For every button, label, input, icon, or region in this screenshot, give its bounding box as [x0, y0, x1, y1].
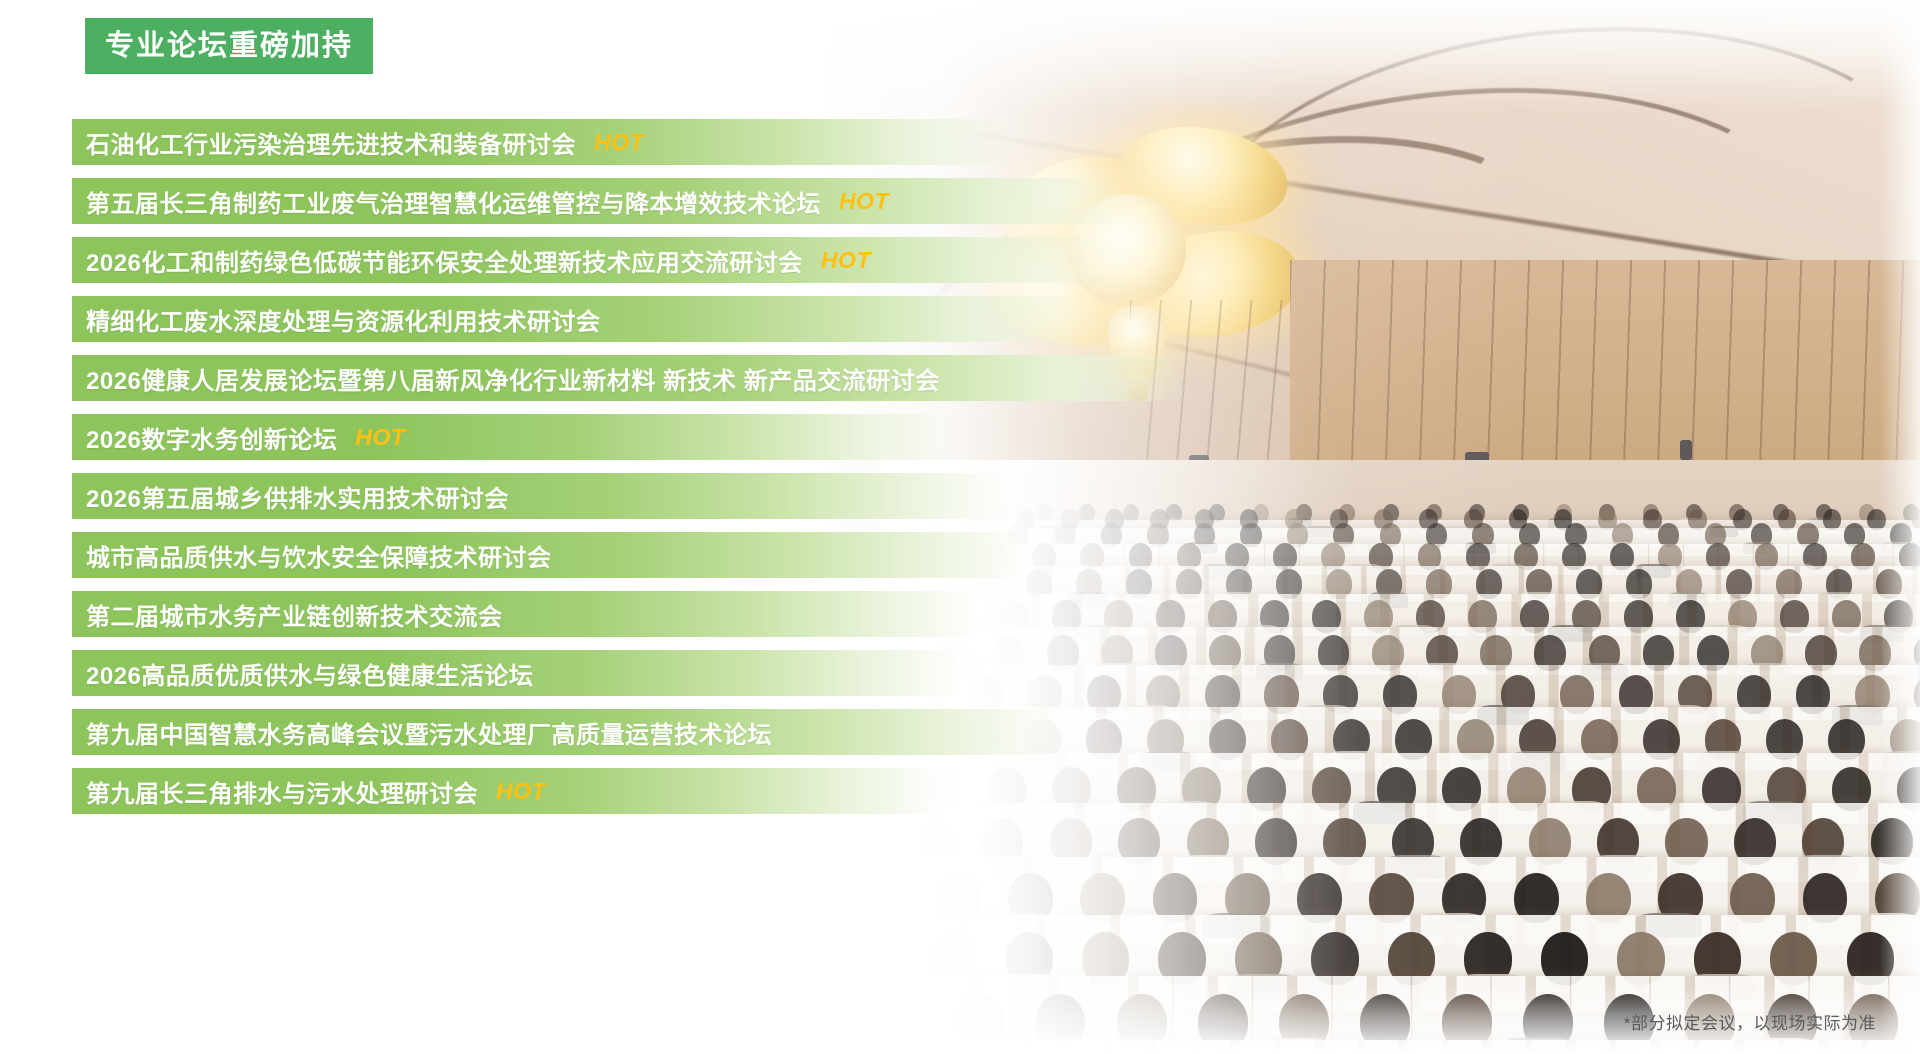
- forum-title: 2026高品质优质供水与绿色健康生活论坛: [86, 656, 533, 691]
- forum-title: 城市高品质供水与饮水安全保障技术研讨会: [86, 538, 552, 573]
- forum-row[interactable]: 第二届城市水务产业链创新技术交流会: [72, 591, 1872, 637]
- forum-title: 2026第五届城乡供排水实用技术研讨会: [86, 479, 509, 514]
- forum-title: 2026化工和制药绿色低碳节能环保安全处理新技术应用交流研讨会: [86, 243, 803, 278]
- forum-title: 第二届城市水务产业链创新技术交流会: [86, 597, 503, 632]
- hot-badge: HOT: [355, 424, 405, 451]
- poster-content: 专业论坛重磅加持 石油化工行业污染治理先进技术和装备研讨会HOT第五届长三角制药…: [0, 0, 1920, 1054]
- forum-row[interactable]: 2026化工和制药绿色低碳节能环保安全处理新技术应用交流研讨会HOT: [72, 237, 1872, 283]
- forum-row[interactable]: 精细化工废水深度处理与资源化利用技术研讨会: [72, 296, 1872, 342]
- forum-row[interactable]: 2026高品质优质供水与绿色健康生活论坛: [72, 650, 1872, 696]
- footnote-disclaimer: *部分拟定会议，以现场实际为准: [1624, 1009, 1876, 1034]
- forum-title: 第九届中国智慧水务高峰会议暨污水处理厂高质量运营技术论坛: [86, 715, 772, 750]
- forum-row[interactable]: 城市高品质供水与饮水安全保障技术研讨会: [72, 532, 1872, 578]
- section-title-text: 专业论坛重磅加持: [105, 32, 353, 61]
- hot-badge: HOT: [496, 778, 546, 805]
- forum-title: 2026健康人居发展论坛暨第八届新风净化行业新材料 新技术 新产品交流研讨会: [86, 361, 940, 396]
- hot-badge: HOT: [821, 247, 871, 274]
- section-title-badge: 专业论坛重磅加持: [85, 18, 373, 74]
- forum-title: 第五届长三角制药工业废气治理智慧化运维管控与降本增效技术论坛: [86, 184, 821, 219]
- forum-row[interactable]: 第五届长三角制药工业废气治理智慧化运维管控与降本增效技术论坛HOT: [72, 178, 1872, 224]
- hot-badge: HOT: [839, 188, 889, 215]
- forum-row[interactable]: 第九届长三角排水与污水处理研讨会HOT: [72, 768, 1872, 814]
- forum-list: 石油化工行业污染治理先进技术和装备研讨会HOT第五届长三角制药工业废气治理智慧化…: [72, 119, 1872, 827]
- forum-title: 第九届长三角排水与污水处理研讨会: [86, 774, 478, 809]
- forum-row[interactable]: 2026数字水务创新论坛HOT: [72, 414, 1872, 460]
- poster-canvas: 专业论坛重磅加持 石油化工行业污染治理先进技术和装备研讨会HOT第五届长三角制药…: [0, 0, 1920, 1054]
- forum-title: 精细化工废水深度处理与资源化利用技术研讨会: [86, 302, 601, 337]
- forum-title: 2026数字水务创新论坛: [86, 420, 337, 455]
- forum-row[interactable]: 2026第五届城乡供排水实用技术研讨会: [72, 473, 1872, 519]
- forum-row[interactable]: 2026健康人居发展论坛暨第八届新风净化行业新材料 新技术 新产品交流研讨会: [72, 355, 1872, 401]
- forum-title: 石油化工行业污染治理先进技术和装备研讨会: [86, 125, 576, 160]
- forum-row[interactable]: 石油化工行业污染治理先进技术和装备研讨会HOT: [72, 119, 1872, 165]
- hot-badge: HOT: [594, 129, 644, 156]
- forum-row[interactable]: 第九届中国智慧水务高峰会议暨污水处理厂高质量运营技术论坛: [72, 709, 1872, 755]
